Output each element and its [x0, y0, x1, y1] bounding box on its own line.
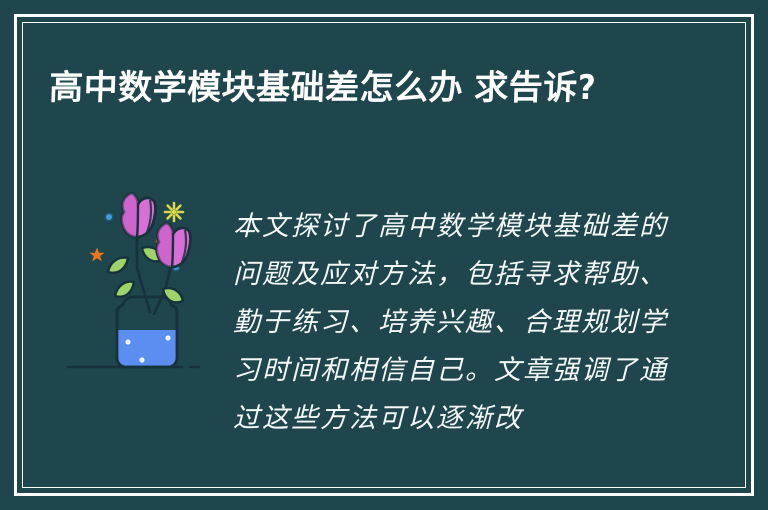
sparkle-burst-icon: [165, 203, 183, 221]
tulip-flower-right: [157, 223, 191, 267]
leaf-right: [163, 288, 183, 302]
tulips-in-jar-illustration: [62, 190, 242, 390]
leaf-lower-left: [115, 282, 134, 297]
water-highlight-dot: [125, 339, 130, 344]
page-title: 高中数学模块基础差怎么办 求告诉?: [48, 62, 670, 114]
water-highlight-dot: [139, 357, 144, 362]
dot-blue-top-icon: [104, 212, 113, 221]
star-orange-icon: [89, 248, 104, 262]
content-row: 本文探讨了高中数学模块基础差的问题及应对方法，包括寻求帮助、勤于练习、培养兴趣、…: [22, 185, 746, 475]
tulip-flower-left: [122, 193, 156, 237]
water-highlight-dot: [165, 335, 170, 340]
leaf-left: [108, 258, 128, 273]
article-summary-text: 本文探讨了高中数学模块基础差的问题及应对方法，包括寻求帮助、勤于练习、培养兴趣、…: [233, 203, 683, 443]
